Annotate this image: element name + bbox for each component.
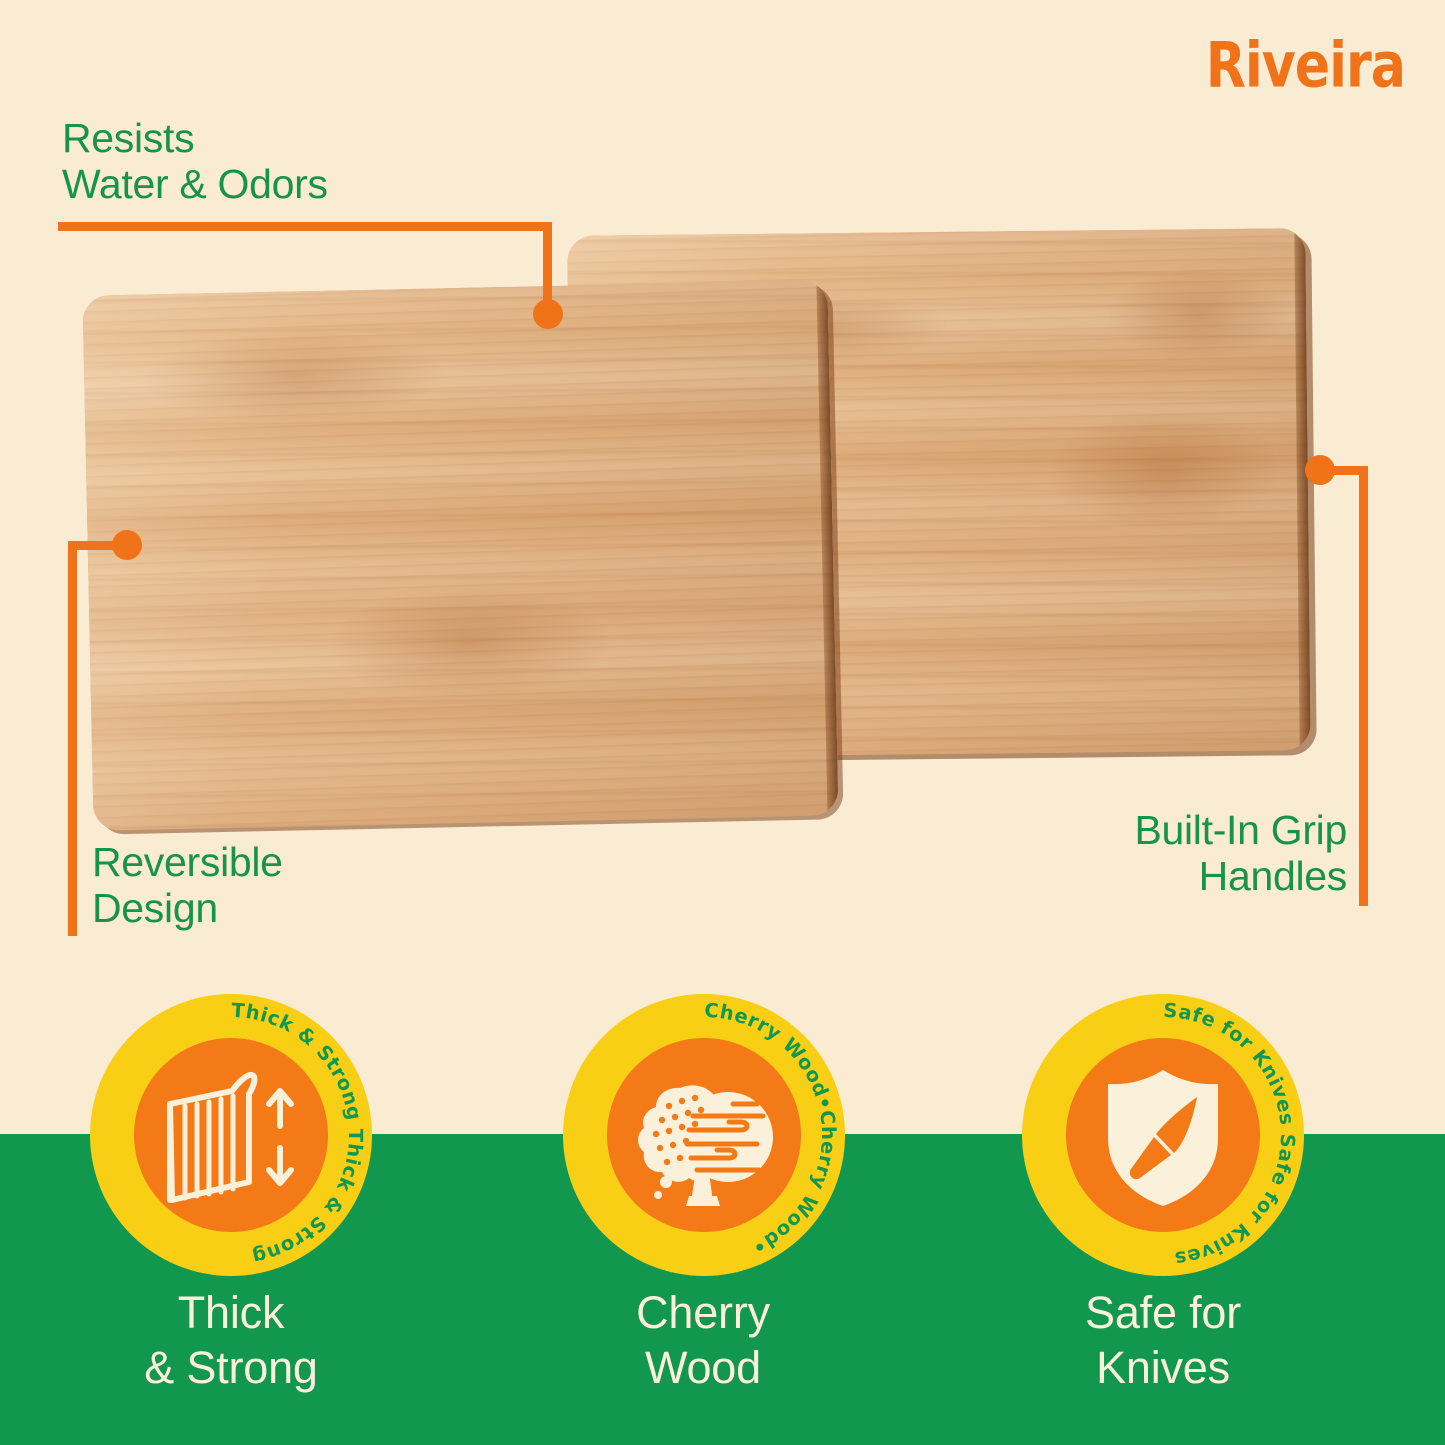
feature-label-built-in-grip-handles: Built-In Grip Handles: [1134, 808, 1347, 900]
callout-dot-handles: [1305, 455, 1335, 485]
callout-dot-reversible: [112, 530, 142, 560]
feature-label-reversible-design: Reversible Design: [92, 840, 283, 932]
cutting-board-front: [82, 280, 838, 830]
shield-knife-icon: [1084, 1054, 1242, 1216]
connector-line-reversible-vertical: [68, 541, 77, 936]
board-thickness-icon: [152, 1054, 310, 1216]
tree-icon: [625, 1054, 783, 1216]
badge-caption-safe-for-knives: Safe for Knives: [1003, 1286, 1323, 1396]
callout-dot-resists: [533, 299, 563, 329]
wood-grain-front: [82, 280, 838, 830]
connector-line-resists-horizontal: [58, 222, 552, 231]
badge-row: Thick & Strong Thick & Strong: [0, 994, 1445, 1284]
connector-line-handles-vertical: [1359, 466, 1368, 906]
badge-safe-for-knives: Safe for Knives Safe for Knives: [1022, 994, 1304, 1276]
badge-caption-cherry-wood: Cherry Wood: [543, 1286, 863, 1396]
brand-logo: Riveira: [1206, 28, 1405, 101]
product-infographic: Riveira Resists Water &: [0, 0, 1445, 1445]
badge-thick-strong: Thick & Strong Thick & Strong: [90, 994, 372, 1276]
badge-cherry-wood: Cherry Wood•Cherry Wood•: [563, 994, 845, 1276]
badge-caption-thick-strong: Thick & Strong: [71, 1286, 391, 1396]
feature-label-resists-water-odors: Resists Water & Odors: [62, 116, 328, 208]
